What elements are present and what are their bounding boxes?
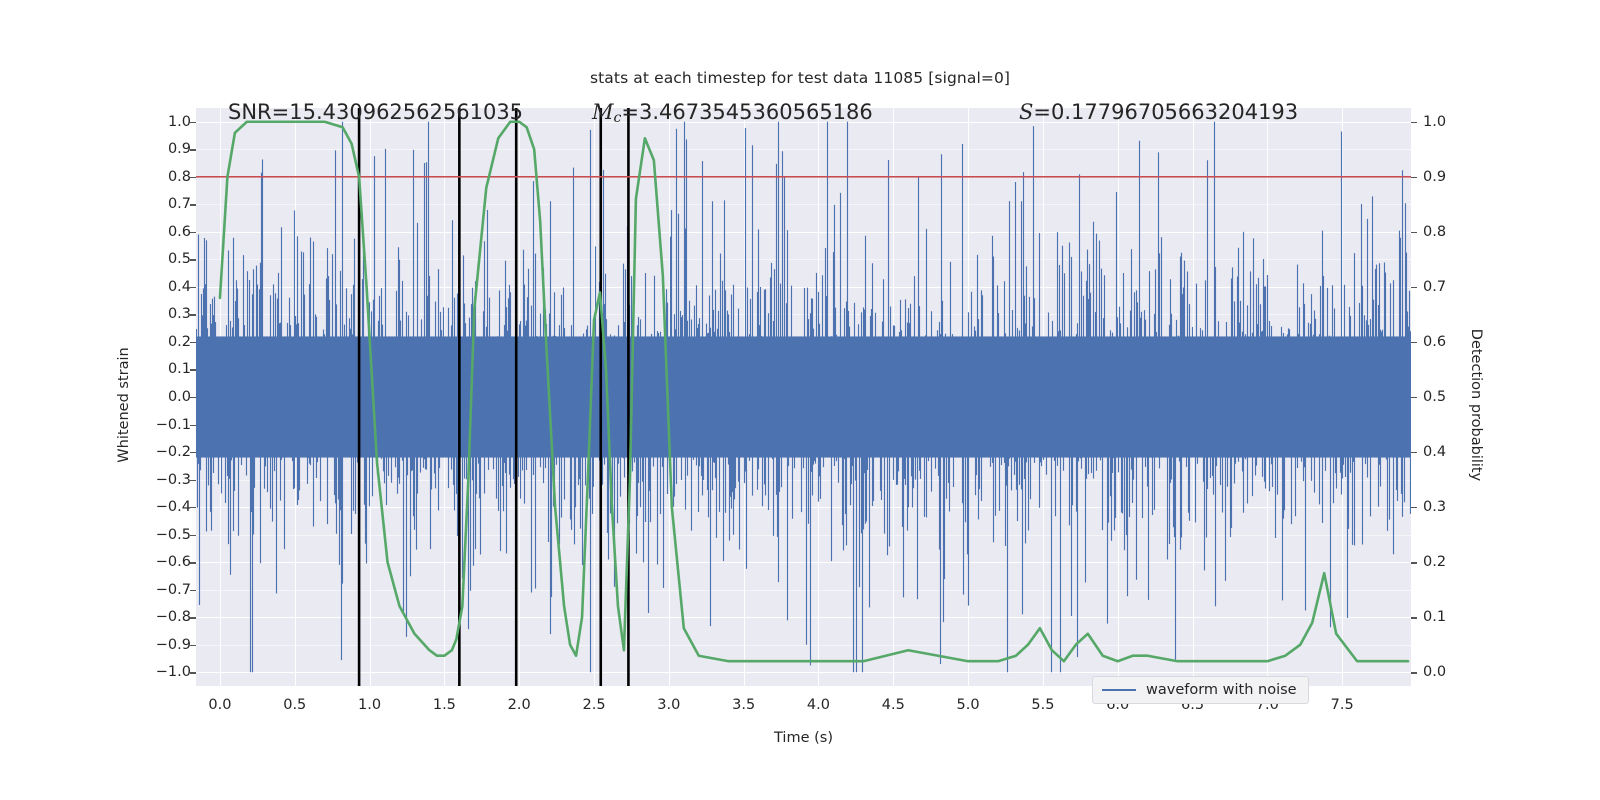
chirp-mass-value: =3.4673545360565186 bbox=[621, 100, 872, 124]
right-y-tick-mark bbox=[1411, 672, 1417, 673]
right-y-tick-label: 0.8 bbox=[1423, 224, 1446, 240]
x-tick-label: 4.5 bbox=[882, 697, 905, 713]
right-y-tick-label: 0.9 bbox=[1423, 169, 1446, 185]
left-y-tick-label: −0.5 bbox=[156, 527, 191, 543]
left-y-tick-label: −0.9 bbox=[156, 637, 191, 653]
left-y-tick-mark bbox=[190, 342, 196, 343]
right-y-tick-label: 1.0 bbox=[1423, 114, 1446, 130]
annotation-snr: SNR=15.430962562561035 bbox=[228, 100, 523, 124]
left-y-tick-mark bbox=[190, 369, 196, 370]
legend: waveform with noise bbox=[1092, 676, 1309, 704]
left-y-tick-mark bbox=[190, 507, 196, 508]
figure-canvas: stats at each timestep for test data 110… bbox=[0, 0, 1600, 800]
right-y-tick-mark bbox=[1411, 287, 1417, 288]
left-y-tick-label: 0.2 bbox=[168, 334, 191, 350]
x-tick-label: 5.0 bbox=[957, 697, 980, 713]
left-y-tick-mark bbox=[190, 177, 196, 178]
left-y-tick-label: 0.1 bbox=[168, 361, 191, 377]
waveform-noise-core-band bbox=[196, 336, 1411, 457]
left-y-tick-label: 1.0 bbox=[168, 114, 191, 130]
left-y-tick-mark bbox=[190, 645, 196, 646]
left-y-tick-mark bbox=[190, 397, 196, 398]
left-y-tick-mark bbox=[190, 287, 196, 288]
annotation-chirp-mass: Mc=3.4673545360565186 bbox=[592, 100, 873, 126]
waveform-noise-series bbox=[196, 122, 1411, 672]
left-y-tick-label: 0.6 bbox=[168, 224, 191, 240]
x-axis-label: Time (s) bbox=[196, 730, 1411, 746]
s-stat-symbol: S bbox=[1019, 100, 1033, 124]
chart-title: stats at each timestep for test data 110… bbox=[0, 69, 1600, 87]
plot-area bbox=[196, 108, 1411, 686]
x-tick-label: 4.0 bbox=[807, 697, 830, 713]
x-tick-label: 1.5 bbox=[433, 697, 456, 713]
left-y-tick-label: −0.3 bbox=[156, 472, 191, 488]
left-y-tick-label: −0.6 bbox=[156, 554, 191, 570]
right-y-tick-mark bbox=[1411, 617, 1417, 618]
right-y-tick-label: 0.1 bbox=[1423, 609, 1446, 625]
right-y-tick-mark bbox=[1411, 452, 1417, 453]
left-y-tick-mark bbox=[190, 314, 196, 315]
right-y-tick-label: 0.7 bbox=[1423, 279, 1446, 295]
left-y-tick-label: −0.2 bbox=[156, 444, 191, 460]
plot-svg bbox=[196, 108, 1411, 686]
left-y-tick-label: −0.4 bbox=[156, 499, 191, 515]
left-y-tick-label: 0.9 bbox=[168, 141, 191, 157]
right-y-tick-mark bbox=[1411, 177, 1417, 178]
x-tick-label: 0.5 bbox=[283, 697, 306, 713]
right-y-tick-mark bbox=[1411, 342, 1417, 343]
left-y-tick-mark bbox=[190, 480, 196, 481]
x-tick-label: 5.5 bbox=[1031, 697, 1054, 713]
annotation-s-stat: S=0.17796705663204193 bbox=[1019, 100, 1298, 124]
left-y-tick-label: 0.5 bbox=[168, 251, 191, 267]
right-y-axis-label: Detection probability bbox=[1468, 275, 1484, 535]
right-y-tick-label: 0.3 bbox=[1423, 499, 1446, 515]
left-y-tick-label: 0.7 bbox=[168, 196, 191, 212]
x-tick-label: 2.5 bbox=[582, 697, 605, 713]
right-y-tick-label: 0.0 bbox=[1423, 664, 1446, 680]
right-y-tick-label: 0.4 bbox=[1423, 444, 1446, 460]
left-y-tick-mark bbox=[190, 562, 196, 563]
x-tick-label: 1.0 bbox=[358, 697, 381, 713]
left-y-tick-mark bbox=[190, 204, 196, 205]
right-y-tick-mark bbox=[1411, 507, 1417, 508]
left-y-tick-label: −0.8 bbox=[156, 609, 191, 625]
left-y-tick-label: 0.4 bbox=[168, 279, 191, 295]
left-y-tick-mark bbox=[190, 122, 196, 123]
left-y-tick-label: −0.7 bbox=[156, 582, 191, 598]
right-y-tick-label: 0.5 bbox=[1423, 389, 1446, 405]
left-y-tick-mark bbox=[190, 672, 196, 673]
left-y-tick-mark bbox=[190, 425, 196, 426]
left-y-tick-mark bbox=[190, 452, 196, 453]
right-y-tick-label: 0.6 bbox=[1423, 334, 1446, 350]
chirp-mass-symbol: M bbox=[592, 100, 614, 124]
x-tick-label: 2.0 bbox=[508, 697, 531, 713]
right-y-tick-mark bbox=[1411, 397, 1417, 398]
legend-swatch-waveform-with-noise bbox=[1102, 689, 1136, 691]
left-y-tick-mark bbox=[190, 535, 196, 536]
left-y-tick-mark bbox=[190, 232, 196, 233]
left-y-tick-label: 0.3 bbox=[168, 306, 191, 322]
left-y-tick-label: 0.0 bbox=[168, 389, 191, 405]
left-y-tick-mark bbox=[190, 149, 196, 150]
s-stat-value: =0.17796705663204193 bbox=[1033, 100, 1298, 124]
right-y-tick-mark bbox=[1411, 562, 1417, 563]
left-y-tick-mark bbox=[190, 590, 196, 591]
legend-label-waveform-with-noise: waveform with noise bbox=[1146, 682, 1297, 698]
x-tick-label: 0.0 bbox=[208, 697, 231, 713]
x-tick-label: 3.0 bbox=[657, 697, 680, 713]
x-tick-label: 7.5 bbox=[1331, 697, 1354, 713]
x-tick-label: 3.5 bbox=[732, 697, 755, 713]
right-y-tick-mark bbox=[1411, 232, 1417, 233]
right-y-tick-mark bbox=[1411, 122, 1417, 123]
left-y-tick-mark bbox=[190, 259, 196, 260]
left-y-tick-label: −1.0 bbox=[156, 664, 191, 680]
left-y-tick-label: −0.1 bbox=[156, 417, 191, 433]
right-y-tick-label: 0.2 bbox=[1423, 554, 1446, 570]
left-y-axis-label: Whitened strain bbox=[116, 275, 132, 535]
left-y-tick-label: 0.8 bbox=[168, 169, 191, 185]
left-y-tick-mark bbox=[190, 617, 196, 618]
